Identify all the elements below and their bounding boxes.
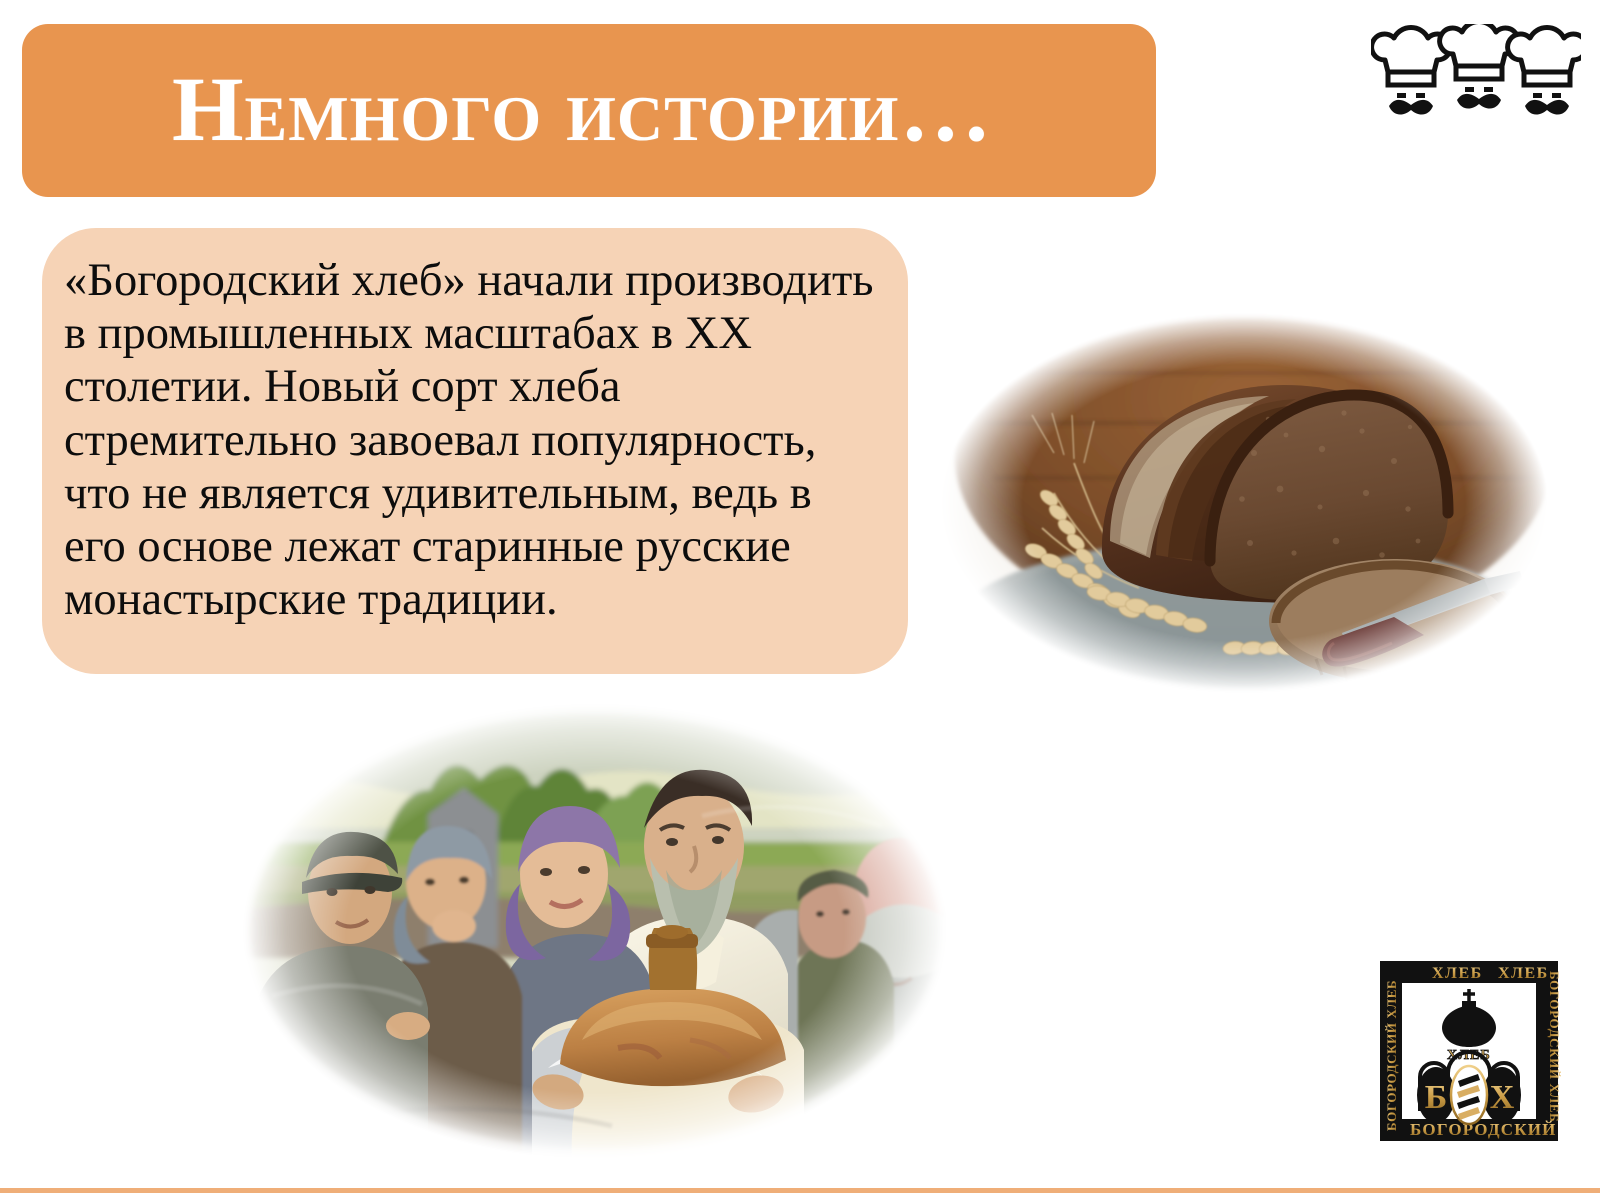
bottom-rule <box>0 1188 1600 1193</box>
logo-top-right-word: ХЛЕБ <box>1498 965 1549 982</box>
page-title: Немного истории… <box>172 63 992 155</box>
logo-top-left-word: ХЛЕБ <box>1432 965 1483 982</box>
bread-and-salt-painting <box>232 696 958 1166</box>
dark-rye-bread-photo <box>924 303 1564 703</box>
title-banner: Немного истории… <box>22 24 1156 197</box>
body-paragraph: «Богородский хлеб» начали производить в … <box>64 254 878 627</box>
logo-monogram-left: Б <box>1425 1079 1447 1116</box>
slide: Немного истории… <box>0 0 1600 1200</box>
logo-bottom-word: БОГОРОДСКИЙ <box>1410 1120 1557 1139</box>
logo-monogram-right: Х <box>1490 1079 1515 1116</box>
chef-hats-icon <box>1371 24 1581 124</box>
onion-dome-icon <box>1442 989 1496 1047</box>
logo-left-side-word: БОГОРОДСКИЙ ХЛЕБ <box>1384 980 1399 1131</box>
bogorodsky-khleb-logo: ХЛЕБ ХЛЕБ БОГОРОДСКИЙ БОГОРОДСКИЙ ХЛЕБ Б… <box>1374 955 1564 1147</box>
logo-right-side-word: БОГОРОДСКИЙ ХЛЕБ <box>1547 971 1562 1122</box>
bread-loaf-icon <box>1451 1066 1487 1124</box>
body-text-card: «Богородский хлеб» начали производить в … <box>42 228 908 674</box>
